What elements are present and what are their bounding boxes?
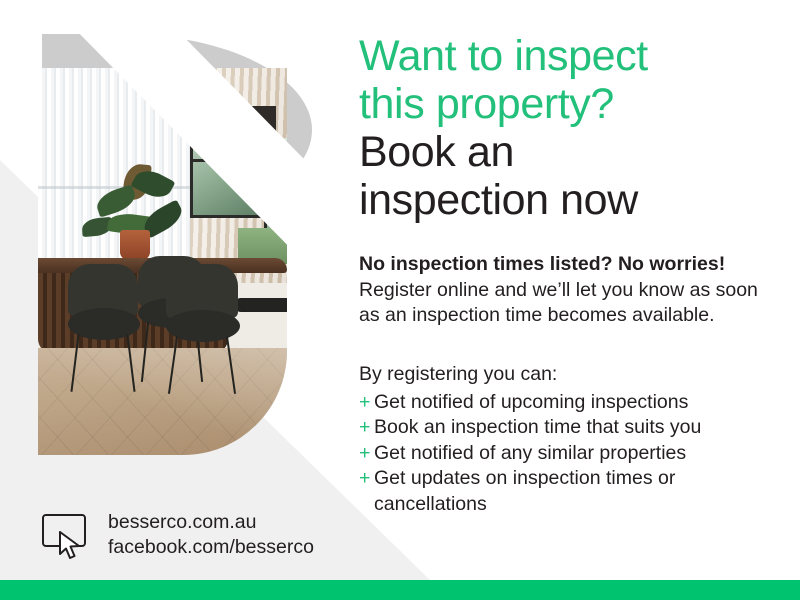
body-copy: No inspection times listed? No worries! … <box>359 252 779 329</box>
list-item-label: Get notified of upcoming inspections <box>374 390 789 416</box>
contact-links: besserco.com.au facebook.com/besserco <box>108 510 314 560</box>
plus-icon: + <box>359 466 370 492</box>
list-item: + Book an inspection time that suits you <box>359 415 789 441</box>
website-link[interactable]: besserco.com.au <box>108 510 314 535</box>
body-paragraph: Register online and we’ll let you know a… <box>359 279 758 327</box>
headline-line-4: inspection now <box>359 176 759 224</box>
poster-canvas: Want to inspect this property? Book an i… <box>0 0 800 600</box>
list-item: + Get notified of any similar properties <box>359 441 789 467</box>
benefits-list-block: By registering you can: + Get notified o… <box>359 362 789 517</box>
list-item: + Get updates on inspection times or can… <box>359 466 789 517</box>
benefits-list-title: By registering you can: <box>359 362 789 388</box>
click-cursor-icon <box>40 510 94 560</box>
list-item: + Get notified of upcoming inspections <box>359 390 789 416</box>
body-lead: No inspection times listed? No worries! <box>359 252 779 278</box>
list-item-label: Book an inspection time that suits you <box>374 415 789 441</box>
headline-line-3: Book an <box>359 128 759 176</box>
benefits-list: + Get notified of upcoming inspections +… <box>359 390 789 518</box>
plus-icon: + <box>359 441 370 467</box>
headline-line-2: this property? <box>359 80 759 128</box>
footer-contact: besserco.com.au facebook.com/besserco <box>40 510 314 560</box>
green-footer-bar <box>0 580 800 600</box>
plus-icon: + <box>359 415 370 441</box>
headline: Want to inspect this property? Book an i… <box>359 32 759 224</box>
list-item-label: Get notified of any similar properties <box>374 441 789 467</box>
list-item-label: Get updates on inspection times or cance… <box>374 466 789 517</box>
plus-icon: + <box>359 390 370 416</box>
facebook-link[interactable]: facebook.com/besserco <box>108 535 314 560</box>
headline-line-1: Want to inspect <box>359 32 759 80</box>
